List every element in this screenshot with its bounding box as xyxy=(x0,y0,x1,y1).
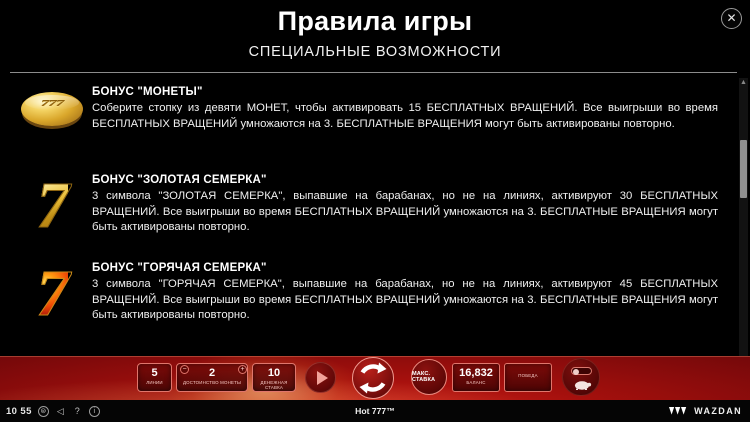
balance-display[interactable]: 16,832 БАЛАНС xyxy=(452,363,500,392)
status-bar: Hot 777™ 10 55 ⊜ ◁ ? i WAZDAN xyxy=(0,400,750,422)
bonus-description: Соберите стопку из девяти МОНЕТ, чтобы а… xyxy=(92,101,718,132)
hot-seven-glyph: 7 xyxy=(37,268,68,320)
toggle-switch-icon[interactable] xyxy=(571,367,592,375)
list-item: 7 БОНУС "ГОРЯЧАЯ СЕМЕРКА" 3 символа "ГОР… xyxy=(0,262,740,340)
page-subtitle: СПЕЦИАЛЬНЫЕ ВОЗМОЖНОСТИ xyxy=(0,44,750,60)
bonus-heading: БОНУС "ГОРЯЧАЯ СЕМЕРКА" xyxy=(92,262,718,274)
lines-button[interactable]: 5 ЛИНИИ xyxy=(137,363,172,392)
list-item: 7 БОНУС "ЗОЛОТАЯ СЕМЕРКА" 3 символа "ЗОЛ… xyxy=(0,174,740,252)
money-bet-button[interactable]: 10 ДЕНЕЖНАЯ СТАВКА xyxy=(252,363,296,392)
win-label: ПОБЕДА xyxy=(505,364,551,378)
close-icon[interactable]: ✕ xyxy=(721,8,742,29)
play-icon[interactable] xyxy=(305,362,336,393)
sound-settings-icon[interactable]: ⊜ xyxy=(38,406,49,417)
clock: 10 55 xyxy=(6,406,32,417)
coin-decrease-button[interactable]: − xyxy=(180,365,189,374)
game-rules-overlay: Правила игры СПЕЦИАЛЬНЫЕ ВОЗМОЖНОСТИ ✕ ▲… xyxy=(0,0,750,400)
lines-value: 5 xyxy=(138,364,171,380)
page-title: Правила игры xyxy=(0,6,750,37)
max-bet-line1: МАКС. xyxy=(412,360,446,377)
money-bet-label: ДЕНЕЖНАЯ СТАВКА xyxy=(253,380,295,390)
wazdan-logo-icon xyxy=(669,407,691,415)
coin-value-label: ДОСТОИНСТВО МОНЕТЫ xyxy=(177,380,247,385)
game-title: Hot 777™ xyxy=(0,400,750,422)
coin-symbol-label: 777 xyxy=(21,98,83,108)
spin-refresh-glyph xyxy=(353,358,393,398)
scrollbar[interactable]: ▲ xyxy=(739,78,748,356)
lines-label: ЛИНИИ xyxy=(138,380,171,385)
gold-seven-symbol: 7 xyxy=(12,174,92,232)
bonus-description: 3 символа "ГОРЯЧАЯ СЕМЕРКА", выпавшие на… xyxy=(92,277,718,324)
spin-refresh-icon[interactable] xyxy=(352,357,394,399)
bonus-list: 777 БОНУС "МОНЕТЫ" Соберите стопку из де… xyxy=(0,86,740,350)
bonus-description: 3 символа "ЗОЛОТАЯ СЕМЕРКА", выпавшие на… xyxy=(92,189,718,236)
game-screen: Правила игры СПЕЦИАЛЬНЫЕ ВОЗМОЖНОСТИ ✕ ▲… xyxy=(0,0,750,422)
game-speed-button[interactable] xyxy=(562,358,600,396)
brand-name: WAZDAN xyxy=(694,406,742,416)
chevron-up-icon[interactable]: ▲ xyxy=(739,78,748,87)
header-divider xyxy=(10,72,737,73)
coin-increase-button[interactable]: + xyxy=(238,365,247,374)
max-bet-button[interactable]: МАКС. СТАВКА xyxy=(411,359,447,395)
hot-seven-symbol: 7 xyxy=(12,262,92,320)
status-bar-left: 10 55 ⊜ ◁ ? i xyxy=(6,400,100,422)
volume-icon[interactable]: ◁ xyxy=(55,406,66,417)
turtle-icon xyxy=(572,379,592,390)
bonus-heading: БОНУС "ЗОЛОТАЯ СЕМЕРКА" xyxy=(92,174,718,186)
balance-value: 16,832 xyxy=(453,364,499,380)
balance-label: БАЛАНС xyxy=(453,380,499,385)
list-item: 777 БОНУС "МОНЕТЫ" Соберите стопку из де… xyxy=(0,86,740,164)
win-display[interactable]: ПОБЕДА xyxy=(504,363,552,392)
bonus-heading: БОНУС "МОНЕТЫ" xyxy=(92,86,718,98)
gold-coin-777-symbol: 777 xyxy=(12,86,92,132)
gold-seven-glyph: 7 xyxy=(37,180,68,232)
brand-logo: WAZDAN xyxy=(669,400,742,422)
info-icon[interactable]: i xyxy=(89,406,100,417)
help-icon[interactable]: ? xyxy=(72,406,83,417)
max-bet-line2: СТАВКА xyxy=(412,377,446,383)
scrollbar-thumb[interactable] xyxy=(740,140,747,198)
money-bet-value: 10 xyxy=(253,364,295,380)
game-control-bar: 5 ЛИНИИ 2 ДОСТОИНСТВО МОНЕТЫ − + 10 ДЕНЕ… xyxy=(0,356,750,400)
